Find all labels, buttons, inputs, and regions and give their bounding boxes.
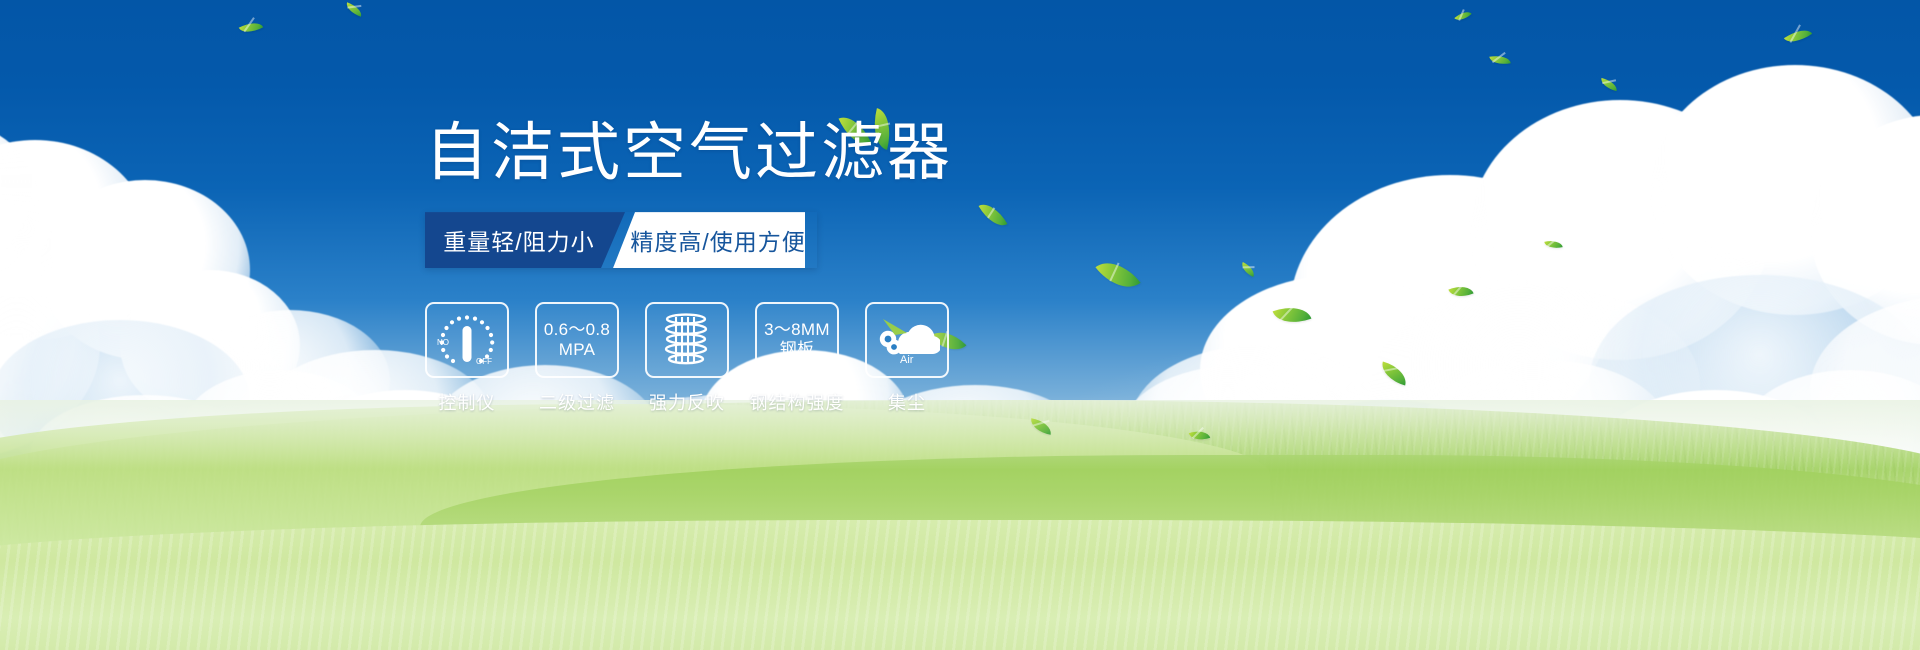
page-title: 自洁式空气过滤器	[425, 120, 1125, 186]
feature-item-two-stage-filter[interactable]: 0.6～0.8 MPA 二级过滤	[535, 302, 619, 415]
banner-content: 自洁式空气过滤器 重量轻/阻力小 精度高/使用方便	[425, 120, 1125, 415]
pressure-range-value: 0.6～0.8	[544, 320, 610, 340]
gauge-on-label: NO	[437, 338, 449, 347]
gauge-icon: NO OFF	[436, 312, 498, 368]
grass-foreground	[0, 520, 1920, 650]
tagline-tabs: 重量轻/阻力小 精度高/使用方便	[425, 212, 817, 268]
feature-box-dust-collection: Air	[865, 302, 949, 378]
pressure-unit-label: MPA	[559, 340, 595, 360]
steel-plate-label: 钢板	[780, 340, 815, 360]
feature-box-strong-backblow	[645, 302, 729, 378]
feature-item-steel-strength[interactable]: 3～8MM 钢板 钢结构强度	[755, 302, 839, 415]
feature-box-two-stage-filter: 0.6～0.8 MPA	[535, 302, 619, 378]
gauge-off-label: OFF	[476, 357, 492, 366]
feature-label-strong-backblow: 强力反吹	[649, 389, 725, 415]
feature-item-controller[interactable]: NO OFF 控制仪	[425, 302, 509, 415]
feature-item-strong-backblow[interactable]: 强力反吹	[645, 302, 729, 415]
feature-box-steel-strength: 3～8MM 钢板	[755, 302, 839, 378]
air-label: Air	[900, 354, 914, 366]
filter-cartridge-icon	[659, 311, 715, 369]
feature-label-controller: 控制仪	[439, 389, 496, 415]
tab-high-precision-easy-use[interactable]: 精度高/使用方便	[613, 212, 805, 268]
steel-thickness-value: 3～8MM	[764, 320, 830, 340]
feature-label-two-stage-filter: 二级过滤	[539, 389, 615, 415]
tab-lightweight-low-resistance[interactable]: 重量轻/阻力小	[425, 212, 625, 268]
air-cloud-icon: Air	[874, 313, 940, 367]
feature-list: NO OFF 控制仪 0.6～0.8 MPA 二级过滤	[425, 302, 1125, 415]
product-banner: 自洁式空气过滤器 重量轻/阻力小 精度高/使用方便	[0, 0, 1920, 650]
feature-label-steel-strength: 钢结构强度	[750, 389, 845, 415]
feature-box-controller: NO OFF	[425, 302, 509, 378]
feature-label-dust-collection: 集尘	[888, 389, 926, 415]
feature-item-dust-collection[interactable]: Air 集尘	[865, 302, 949, 415]
